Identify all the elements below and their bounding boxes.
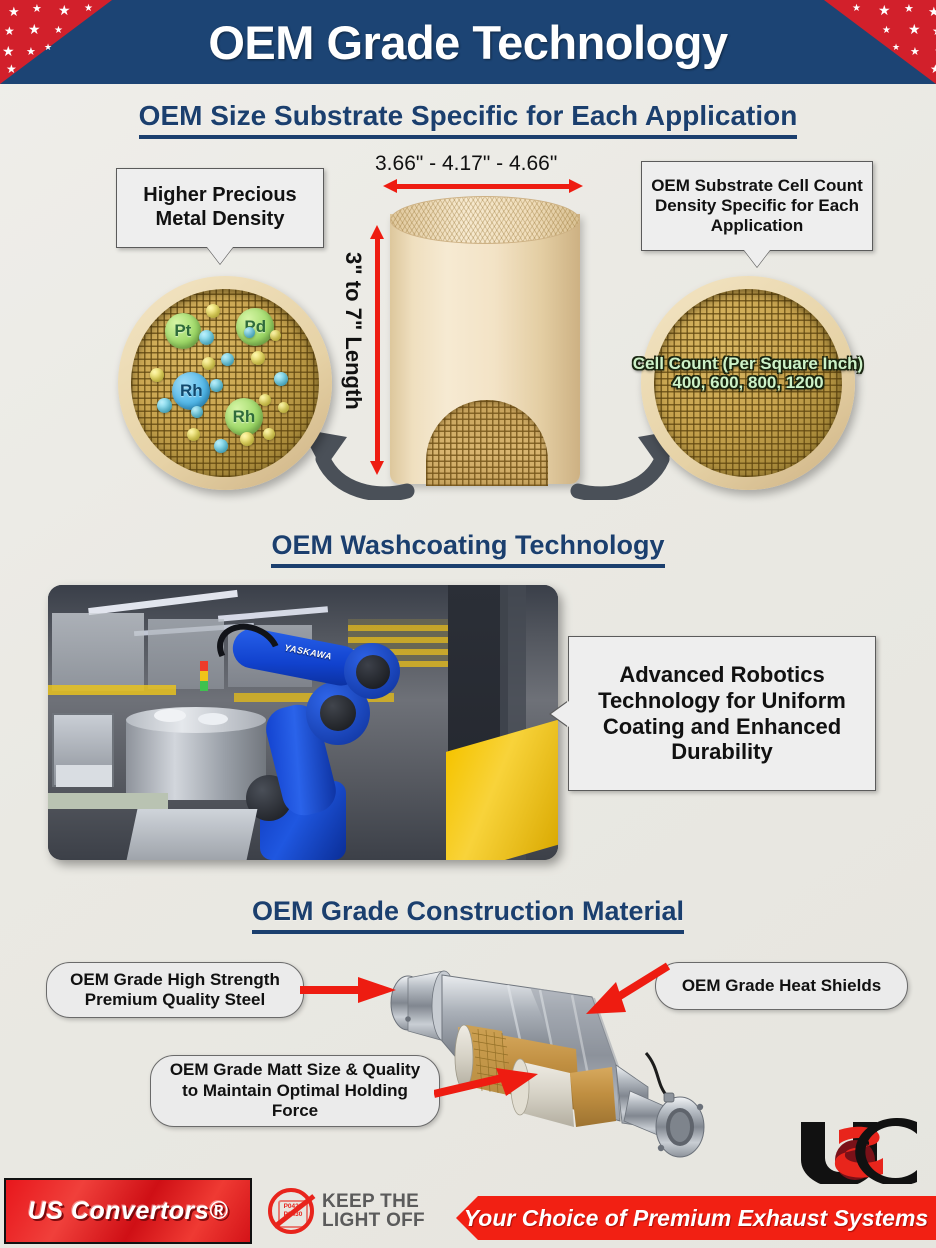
metal-particle — [157, 398, 172, 413]
usc-logo — [795, 1118, 923, 1184]
callout-matt-size-quality: OEM Grade Matt Size & Quality to Maintai… — [150, 1055, 440, 1127]
section-title-substrate: OEM Size Substrate Specific for Each App… — [0, 100, 936, 139]
metal-particle — [259, 394, 271, 406]
metal-sphere-rh-blue: Rh — [172, 372, 210, 410]
metal-particle — [202, 357, 215, 370]
metal-particle — [206, 304, 220, 318]
callout-advanced-robotics: Advanced Robotics Technology for Uniform… — [568, 636, 876, 791]
tagline-text: Your Choice of Premium Exhaust Systems — [464, 1205, 928, 1232]
metal-particle — [210, 379, 223, 392]
metal-particle — [274, 372, 288, 386]
cell-count-values: 400, 600, 800, 1200 — [613, 373, 883, 392]
infographic-page: OEM Grade Technology OEM Size Substrate … — [0, 0, 936, 1248]
callout-tail-icon — [207, 247, 233, 264]
callout-steel-text: OEM Grade High Strength Premium Quality … — [57, 970, 293, 1011]
callout-left-text: Higher Precious Metal Density — [125, 184, 315, 231]
no-check-engine-light-icon: P0420 P0430 — [268, 1188, 314, 1234]
arrow-to-matt-icon — [434, 1068, 544, 1102]
callout-tail-icon — [551, 701, 569, 727]
metal-particle — [240, 432, 254, 446]
substrate-face-cell-count: Cell Count (Per Square Inch) 400, 600, 8… — [641, 276, 855, 490]
callout-shields-text: OEM Grade Heat Shields — [682, 976, 881, 996]
keep-light-line2: LIGHT OFF — [322, 1210, 425, 1231]
cell-count-title: Cell Count (Per Square Inch) — [613, 354, 883, 373]
callout-premium-quality-steel: OEM Grade High Strength Premium Quality … — [46, 962, 304, 1018]
washcoating-robot-photo: YASKAWA — [48, 585, 558, 860]
section-title-washcoating: OEM Washcoating Technology — [0, 530, 936, 568]
metal-particle — [263, 428, 275, 440]
brand-name: US Convertors® — [28, 1197, 228, 1226]
section-title-washcoating-text: OEM Washcoating Technology — [271, 530, 664, 568]
metal-particle — [199, 330, 214, 345]
page-header: OEM Grade Technology — [0, 0, 936, 84]
page-title: OEM Grade Technology — [0, 0, 936, 84]
metal-sphere-pt: Pt — [165, 313, 201, 349]
section-title-substrate-text: OEM Size Substrate Specific for Each App… — [139, 100, 798, 139]
us-convertors-logo[interactable]: US Convertors® — [4, 1178, 252, 1244]
arrow-to-steel-icon — [300, 975, 400, 1005]
metal-particle — [221, 353, 234, 366]
metal-particle — [187, 428, 200, 441]
metal-particle — [214, 439, 228, 453]
keep-the-light-off-badge: P0420 P0430 KEEP THE LIGHT OFF — [268, 1188, 425, 1234]
metal-particle — [244, 327, 255, 338]
callout-oem-substrate-cell-count: OEM Substrate Cell Count Density Specifi… — [641, 161, 873, 251]
arrow-to-heat-shields-icon — [580, 962, 670, 1018]
tagline-banner: Your Choice of Premium Exhaust Systems — [456, 1196, 936, 1240]
section-title-construction-text: OEM Grade Construction Material — [252, 896, 684, 934]
substrate-cylinder-illustration — [390, 196, 580, 496]
cell-grid: Pt Pd Rh Rh — [131, 289, 319, 477]
metal-sphere-rh-green: Rh — [225, 398, 263, 436]
metal-sphere-pd: Pd — [236, 308, 274, 346]
metal-particle — [251, 351, 265, 365]
callout-heat-shields: OEM Grade Heat Shields — [655, 962, 908, 1010]
metal-particle — [270, 330, 281, 341]
cell-count-text: Cell Count (Per Square Inch) 400, 600, 8… — [613, 354, 883, 392]
callout-right-text: OEM Substrate Cell Count Density Specifi… — [650, 176, 864, 236]
substrate-face-precious-metals: Pt Pd Rh Rh — [118, 276, 332, 490]
diameter-label: 3.66" - 4.17" - 4.66" — [375, 152, 557, 176]
callout-matt-text: OEM Grade Matt Size & Quality to Maintai… — [161, 1060, 429, 1121]
length-label: 3" to 7" Length — [340, 252, 366, 410]
metal-particle — [150, 368, 164, 382]
callout-higher-precious-metal-density: Higher Precious Metal Density — [116, 168, 324, 248]
diameter-arrow-icon — [383, 179, 583, 193]
keep-light-line1: KEEP THE — [322, 1191, 419, 1212]
cylinder-top-face-cells — [390, 196, 580, 244]
metal-particle — [191, 406, 203, 418]
callout-tail-icon — [744, 250, 770, 267]
keep-light-off-text: KEEP THE LIGHT OFF — [322, 1192, 425, 1230]
section-title-construction: OEM Grade Construction Material — [0, 896, 936, 934]
callout-robotics-text: Advanced Robotics Technology for Uniform… — [577, 662, 867, 766]
metal-particle — [278, 402, 289, 413]
